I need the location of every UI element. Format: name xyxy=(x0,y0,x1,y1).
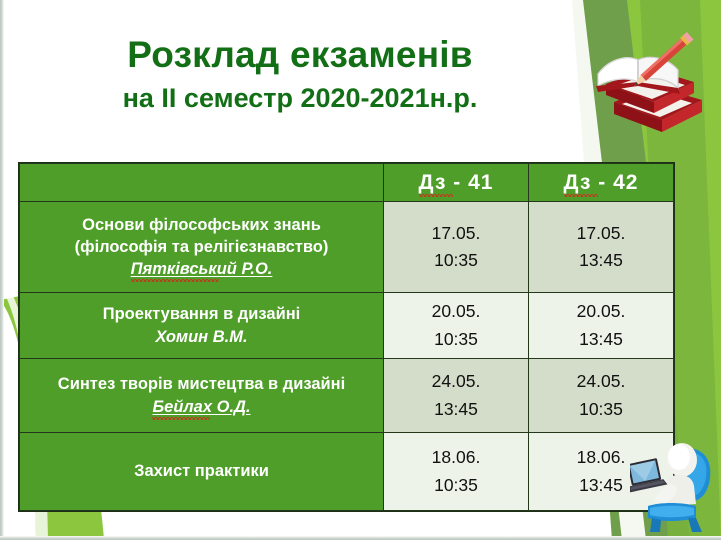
table-header-row: Дз - 41 Дз - 42 xyxy=(20,164,674,202)
table-row: Основи філософських знань (філософія та … xyxy=(20,202,674,293)
exam-slot-cell: 17.05. 13:45 xyxy=(529,202,674,293)
exam-date: 17.05. xyxy=(384,220,528,247)
header-group-1-text: Дз - 41 xyxy=(419,171,494,194)
subject-line: (філософія та релігієзнавство) xyxy=(20,236,383,258)
exam-time: 13:45 xyxy=(529,247,673,274)
subject-line: Проектування в дизайні xyxy=(20,303,383,325)
person-with-laptop-icon xyxy=(630,430,718,534)
exam-date: 20.05. xyxy=(529,298,673,325)
teacher-name-text: Пятківський Р.О. xyxy=(131,260,273,278)
books-and-pencil-icon xyxy=(592,24,708,136)
subject-cell: Проектування в дизайні Хомин В.М. xyxy=(20,293,384,359)
exam-slot-cell: 17.05. 10:35 xyxy=(384,202,529,293)
table-row: Синтез творів мистецтва в дизайні Бейлах… xyxy=(20,359,674,433)
presentation-slide: Розклад екзаменів на II семестр 2020-202… xyxy=(0,0,721,540)
exam-time: 10:35 xyxy=(384,326,528,353)
teacher-name: Бейлах О.Д. xyxy=(152,396,250,418)
title-main: Розклад екзаменів xyxy=(0,34,600,75)
teacher-name: Пятківський Р.О. xyxy=(131,258,273,280)
header-cell-subject xyxy=(20,164,384,202)
subject-line: Синтез творів мистецтва в дизайні xyxy=(20,373,383,395)
exam-slot-cell: 20.05. 13:45 xyxy=(529,293,674,359)
exam-slot-cell: 24.05. 13:45 xyxy=(384,359,529,433)
exam-time: 10:35 xyxy=(384,247,528,274)
header-cell-group-1: Дз - 41 xyxy=(384,164,529,202)
spellcheck-squiggle-icon xyxy=(152,417,210,420)
exam-schedule-table: Дз - 41 Дз - 42 Основи філософських знан… xyxy=(19,163,674,511)
exam-date: 17.05. xyxy=(529,220,673,247)
exam-time: 13:45 xyxy=(384,396,528,423)
subject-cell: Основи філософських знань (філософія та … xyxy=(20,202,384,293)
table-row: Захист практики 18.06. 10:35 18.06. 13:4… xyxy=(20,433,674,511)
group-1-label-wrap: Дз - 41 xyxy=(419,171,494,195)
exam-time: 10:35 xyxy=(384,472,528,499)
exam-date: 20.05. xyxy=(384,298,528,325)
teacher-name: Хомин В.М. xyxy=(155,326,247,348)
group-2-label-wrap: Дз - 42 xyxy=(564,171,639,195)
exam-slot-cell: 20.05. 10:35 xyxy=(384,293,529,359)
page-title: Розклад екзаменів на II семестр 2020-202… xyxy=(0,34,600,114)
spellcheck-squiggle-icon xyxy=(131,279,219,282)
title-subtitle: на II семестр 2020-2021н.р. xyxy=(0,84,600,114)
header-cell-group-2: Дз - 42 xyxy=(529,164,674,202)
exam-slot-cell: 18.06. 10:35 xyxy=(384,433,529,511)
exam-time: 13:45 xyxy=(529,326,673,353)
exam-time: 10:35 xyxy=(529,396,673,423)
table-row: Проектування в дизайні Хомин В.М. 20.05.… xyxy=(20,293,674,359)
exam-date: 24.05. xyxy=(384,368,528,395)
subject-line: Захист практики xyxy=(20,460,383,482)
subject-cell: Захист практики xyxy=(20,433,384,511)
spellcheck-squiggle-icon xyxy=(419,194,453,197)
slide-border-bottom xyxy=(0,536,721,540)
subject-line: Основи філософських знань xyxy=(20,214,383,236)
exam-date: 24.05. xyxy=(529,368,673,395)
teacher-name-text: Бейлах О.Д. xyxy=(152,398,250,416)
exam-date: 18.06. xyxy=(384,444,528,471)
exam-slot-cell: 24.05. 10:35 xyxy=(529,359,674,433)
header-group-2-text: Дз - 42 xyxy=(564,171,639,194)
subject-cell: Синтез творів мистецтва в дизайні Бейлах… xyxy=(20,359,384,433)
spellcheck-squiggle-icon xyxy=(564,194,598,197)
